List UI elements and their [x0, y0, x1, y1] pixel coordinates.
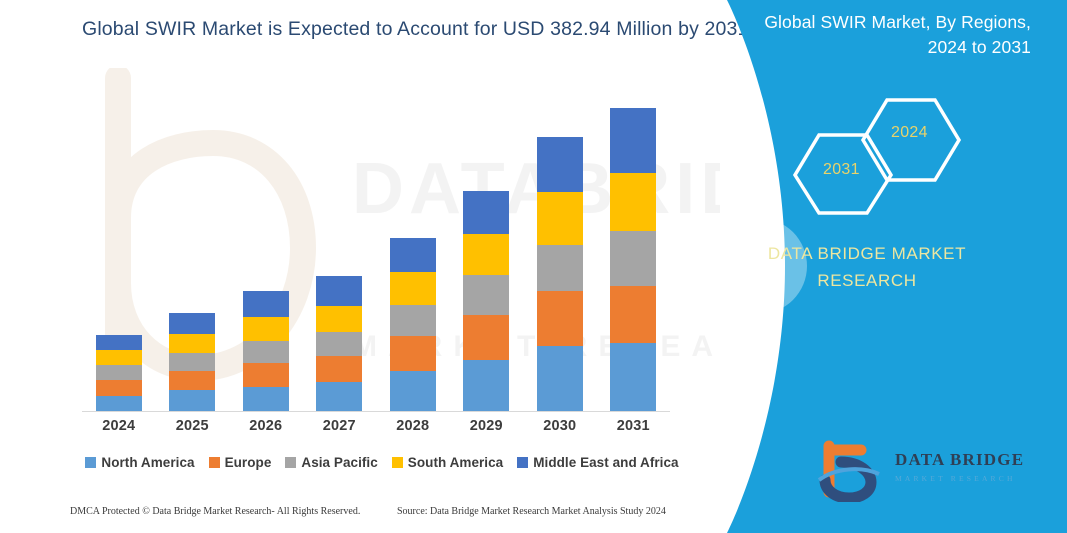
- bar-segment[interactable]: [463, 275, 509, 315]
- bar-segment[interactable]: [96, 396, 142, 411]
- bar-group[interactable]: [316, 276, 362, 411]
- x-axis-label: 2027: [304, 418, 374, 434]
- bar-segment[interactable]: [243, 387, 289, 411]
- bar-segment[interactable]: [463, 360, 509, 411]
- x-axis-label: 2029: [451, 418, 521, 434]
- brand-panel-shape: [667, 0, 1067, 533]
- bar-segment[interactable]: [390, 371, 436, 411]
- x-axis-label: 2025: [157, 418, 227, 434]
- legend-label: South America: [408, 455, 503, 470]
- bar-segment[interactable]: [537, 245, 583, 292]
- bar-segment[interactable]: [537, 192, 583, 244]
- bar-segment[interactable]: [390, 305, 436, 337]
- bar-segment[interactable]: [610, 343, 656, 411]
- bar-segment[interactable]: [96, 380, 142, 395]
- bar-segment[interactable]: [243, 363, 289, 386]
- bar-segment[interactable]: [169, 334, 215, 354]
- bar-segment[interactable]: [169, 371, 215, 390]
- legend-swatch-icon: [85, 457, 96, 468]
- legend-label: Asia Pacific: [301, 455, 377, 470]
- bar-segment[interactable]: [610, 173, 656, 232]
- footer-copyright: DMCA Protected © Data Bridge Market Rese…: [70, 506, 360, 517]
- bar-group[interactable]: [169, 313, 215, 411]
- bar-segment[interactable]: [243, 317, 289, 341]
- bar-group[interactable]: [96, 335, 142, 411]
- bar-segment[interactable]: [169, 313, 215, 334]
- legend-item[interactable]: Europe: [209, 455, 272, 470]
- bar-group[interactable]: [390, 238, 436, 411]
- bar-segment[interactable]: [390, 272, 436, 304]
- x-axis-label: 2024: [84, 418, 154, 434]
- x-axis-labels: 20242025202620272028202920302031: [82, 418, 670, 444]
- bar-segment[interactable]: [537, 137, 583, 193]
- bar-segment[interactable]: [96, 365, 142, 380]
- chart-plot-area: [82, 60, 670, 412]
- legend-item[interactable]: South America: [392, 455, 503, 470]
- x-axis-label: 2030: [525, 418, 595, 434]
- bar-segment[interactable]: [610, 231, 656, 286]
- bar-segment[interactable]: [96, 350, 142, 365]
- bar-segment[interactable]: [316, 276, 362, 306]
- bar-group[interactable]: [243, 291, 289, 411]
- bar-segment[interactable]: [316, 382, 362, 411]
- legend-item[interactable]: North America: [85, 455, 194, 470]
- legend-label: Middle East and Africa: [533, 455, 678, 470]
- x-axis-line: [82, 411, 670, 412]
- footer: DMCA Protected © Data Bridge Market Rese…: [0, 506, 706, 528]
- bar-segment[interactable]: [610, 286, 656, 343]
- legend-item[interactable]: Middle East and Africa: [517, 455, 678, 470]
- infographic-canvas: DATABRIDGE MARKET RESEARCH Global SWIR M…: [0, 0, 1067, 533]
- bar-segment[interactable]: [243, 291, 289, 316]
- bar-segment[interactable]: [390, 336, 436, 371]
- bar-segment[interactable]: [610, 108, 656, 173]
- chart-legend: North AmericaEuropeAsia PacificSouth Ame…: [82, 455, 682, 470]
- chart-title: Global SWIR Market is Expected to Accoun…: [82, 18, 702, 41]
- bar-segment[interactable]: [463, 234, 509, 275]
- bar-segment[interactable]: [537, 346, 583, 411]
- bar-segment[interactable]: [390, 238, 436, 272]
- legend-swatch-icon: [285, 457, 296, 468]
- bar-segment[interactable]: [96, 335, 142, 350]
- legend-label: Europe: [225, 455, 272, 470]
- bar-segment[interactable]: [169, 353, 215, 371]
- legend-item[interactable]: Asia Pacific: [285, 455, 377, 470]
- footer-source: Source: Data Bridge Market Research Mark…: [397, 506, 666, 517]
- legend-swatch-icon: [209, 457, 220, 468]
- bar-group[interactable]: [463, 191, 509, 411]
- legend-label: North America: [101, 455, 194, 470]
- x-axis-label: 2031: [598, 418, 668, 434]
- bar-group[interactable]: [610, 108, 656, 411]
- x-axis-label: 2026: [231, 418, 301, 434]
- bar-segment[interactable]: [463, 191, 509, 233]
- x-axis-label: 2028: [378, 418, 448, 434]
- bar-segment[interactable]: [243, 341, 289, 364]
- bar-segment[interactable]: [169, 390, 215, 411]
- brand-panel: [667, 0, 1067, 533]
- bar-segment[interactable]: [537, 291, 583, 346]
- bar-segment[interactable]: [316, 356, 362, 382]
- legend-swatch-icon: [517, 457, 528, 468]
- bar-group[interactable]: [537, 137, 583, 411]
- bar-segment[interactable]: [316, 306, 362, 332]
- bar-segment[interactable]: [463, 315, 509, 360]
- bar-segment[interactable]: [316, 332, 362, 356]
- legend-swatch-icon: [392, 457, 403, 468]
